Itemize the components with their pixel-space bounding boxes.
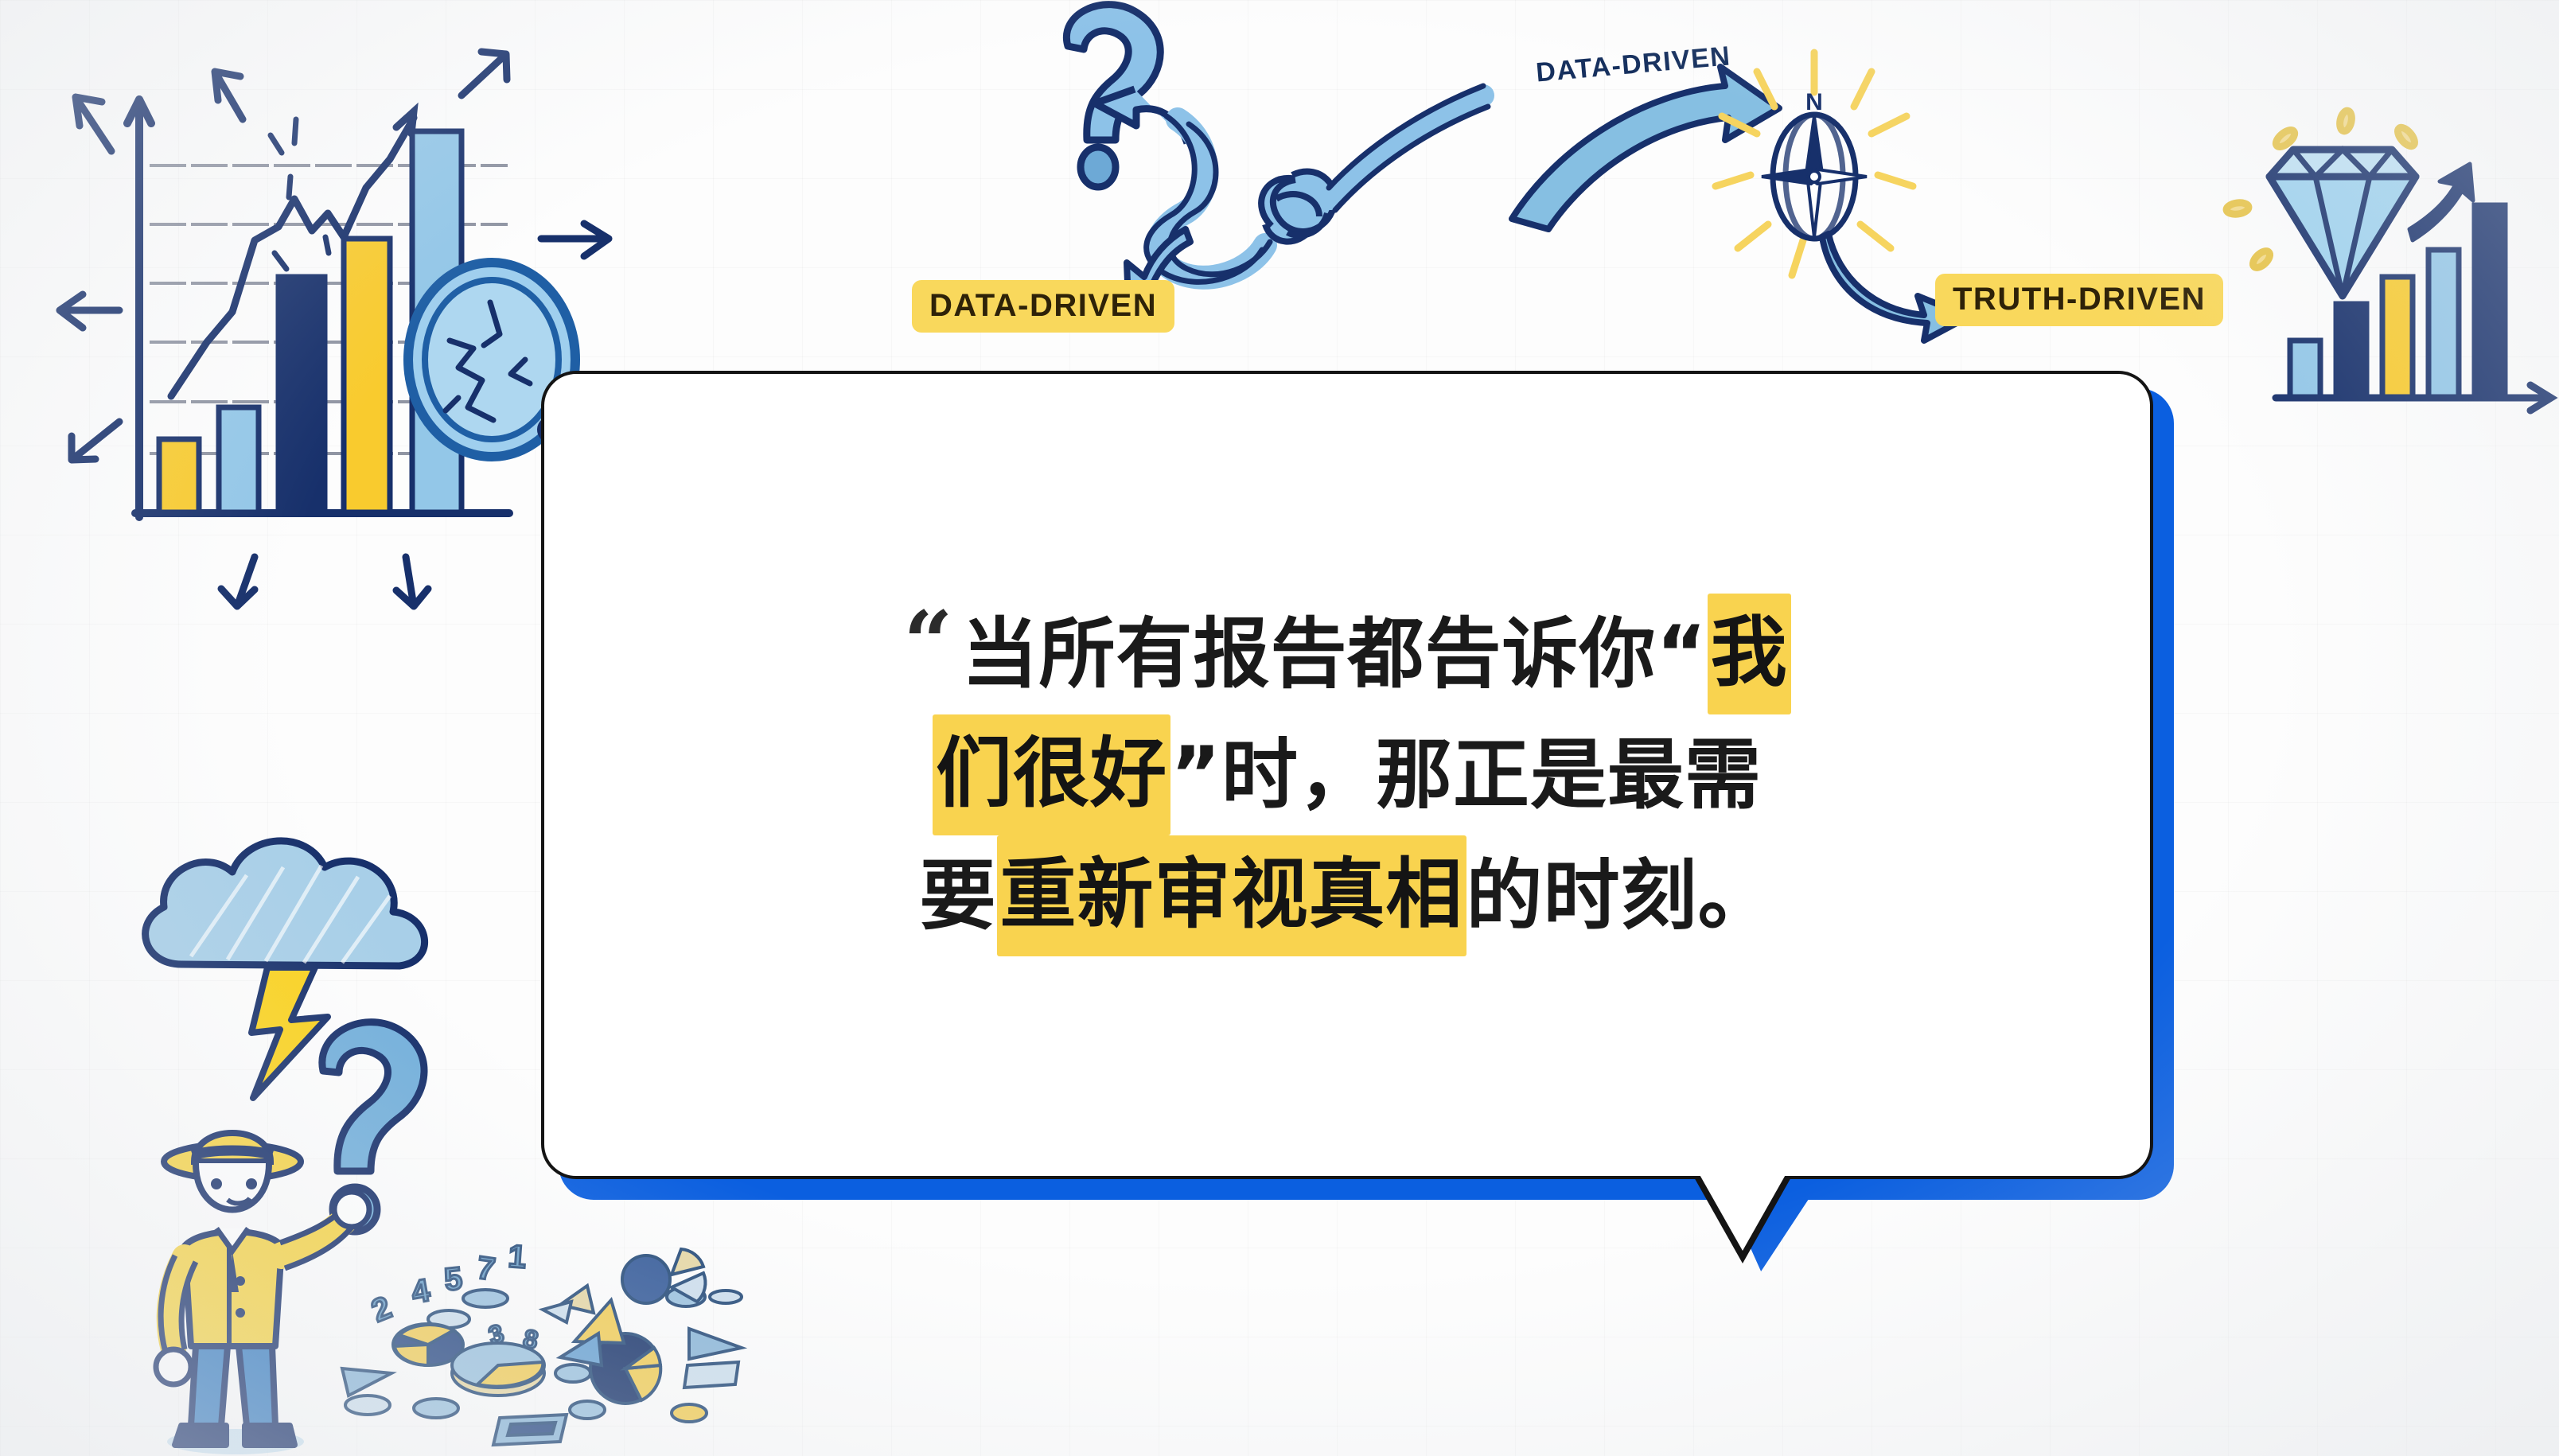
bar-4 (344, 239, 390, 512)
svg-text:1: 1 (507, 1239, 527, 1275)
quote-line-3-plain-a: 要 (920, 842, 997, 950)
diamond-icon (2269, 150, 2416, 296)
poster-canvas: DATA-DRIVEN (0, 0, 2559, 1456)
illustration-scattered-data: 2 4 5 7 1 3 8 (334, 1225, 748, 1456)
illustration-diamond-growth (2196, 88, 2559, 422)
bar-3 (278, 277, 325, 512)
bar-1 (159, 439, 199, 512)
bar-2 (219, 407, 259, 512)
bubble-tail-fill (1698, 1172, 1787, 1251)
svg-text:4: 4 (409, 1273, 433, 1310)
quote-line-1-highlight: 我 (1708, 594, 1791, 714)
quote-line-1: “ 当所有报告都告诉你“ 我 (903, 594, 1790, 714)
svg-text:5: 5 (442, 1261, 464, 1298)
quote-line-3-plain-b: 的时刻。 (1466, 842, 1775, 950)
quote-line-2-highlight: 们很好 (933, 714, 1170, 835)
label-data-driven: DATA-DRIVEN (912, 280, 1174, 333)
svg-text:7: 7 (475, 1250, 497, 1287)
quote-line-3-highlight: 重新审视真相 (997, 835, 1466, 956)
storm-cloud-icon (146, 841, 425, 966)
quote-line-1-plain: 当所有报告都告诉你“ (962, 600, 1708, 708)
quote-speech-bubble: “ 当所有报告都告诉你“ 我 们很好 ”时，那正是最需 要 重新审视真相 的时刻… (541, 371, 2156, 1246)
svg-text:2: 2 (367, 1290, 396, 1329)
quote-line-2-plain: ”时，那正是最需 (1170, 721, 1762, 829)
lightning-bolt-icon (251, 967, 328, 1098)
arrow-upleft (76, 97, 111, 151)
quote-text-block: “ 当所有报告都告诉你“ 我 们很好 ”时，那正是最需 要 重新审视真相 的时刻… (541, 371, 2153, 1179)
quote-line-2: 们很好 ”时，那正是最需 (933, 714, 1762, 835)
open-quote-icon: “ (903, 600, 953, 686)
quote-line-3: 要 重新审视真相 的时刻。 (920, 835, 1775, 956)
compass-north-label: N (1805, 89, 1823, 115)
label-truth-driven: TRUTH-DRIVEN (1935, 274, 2223, 326)
